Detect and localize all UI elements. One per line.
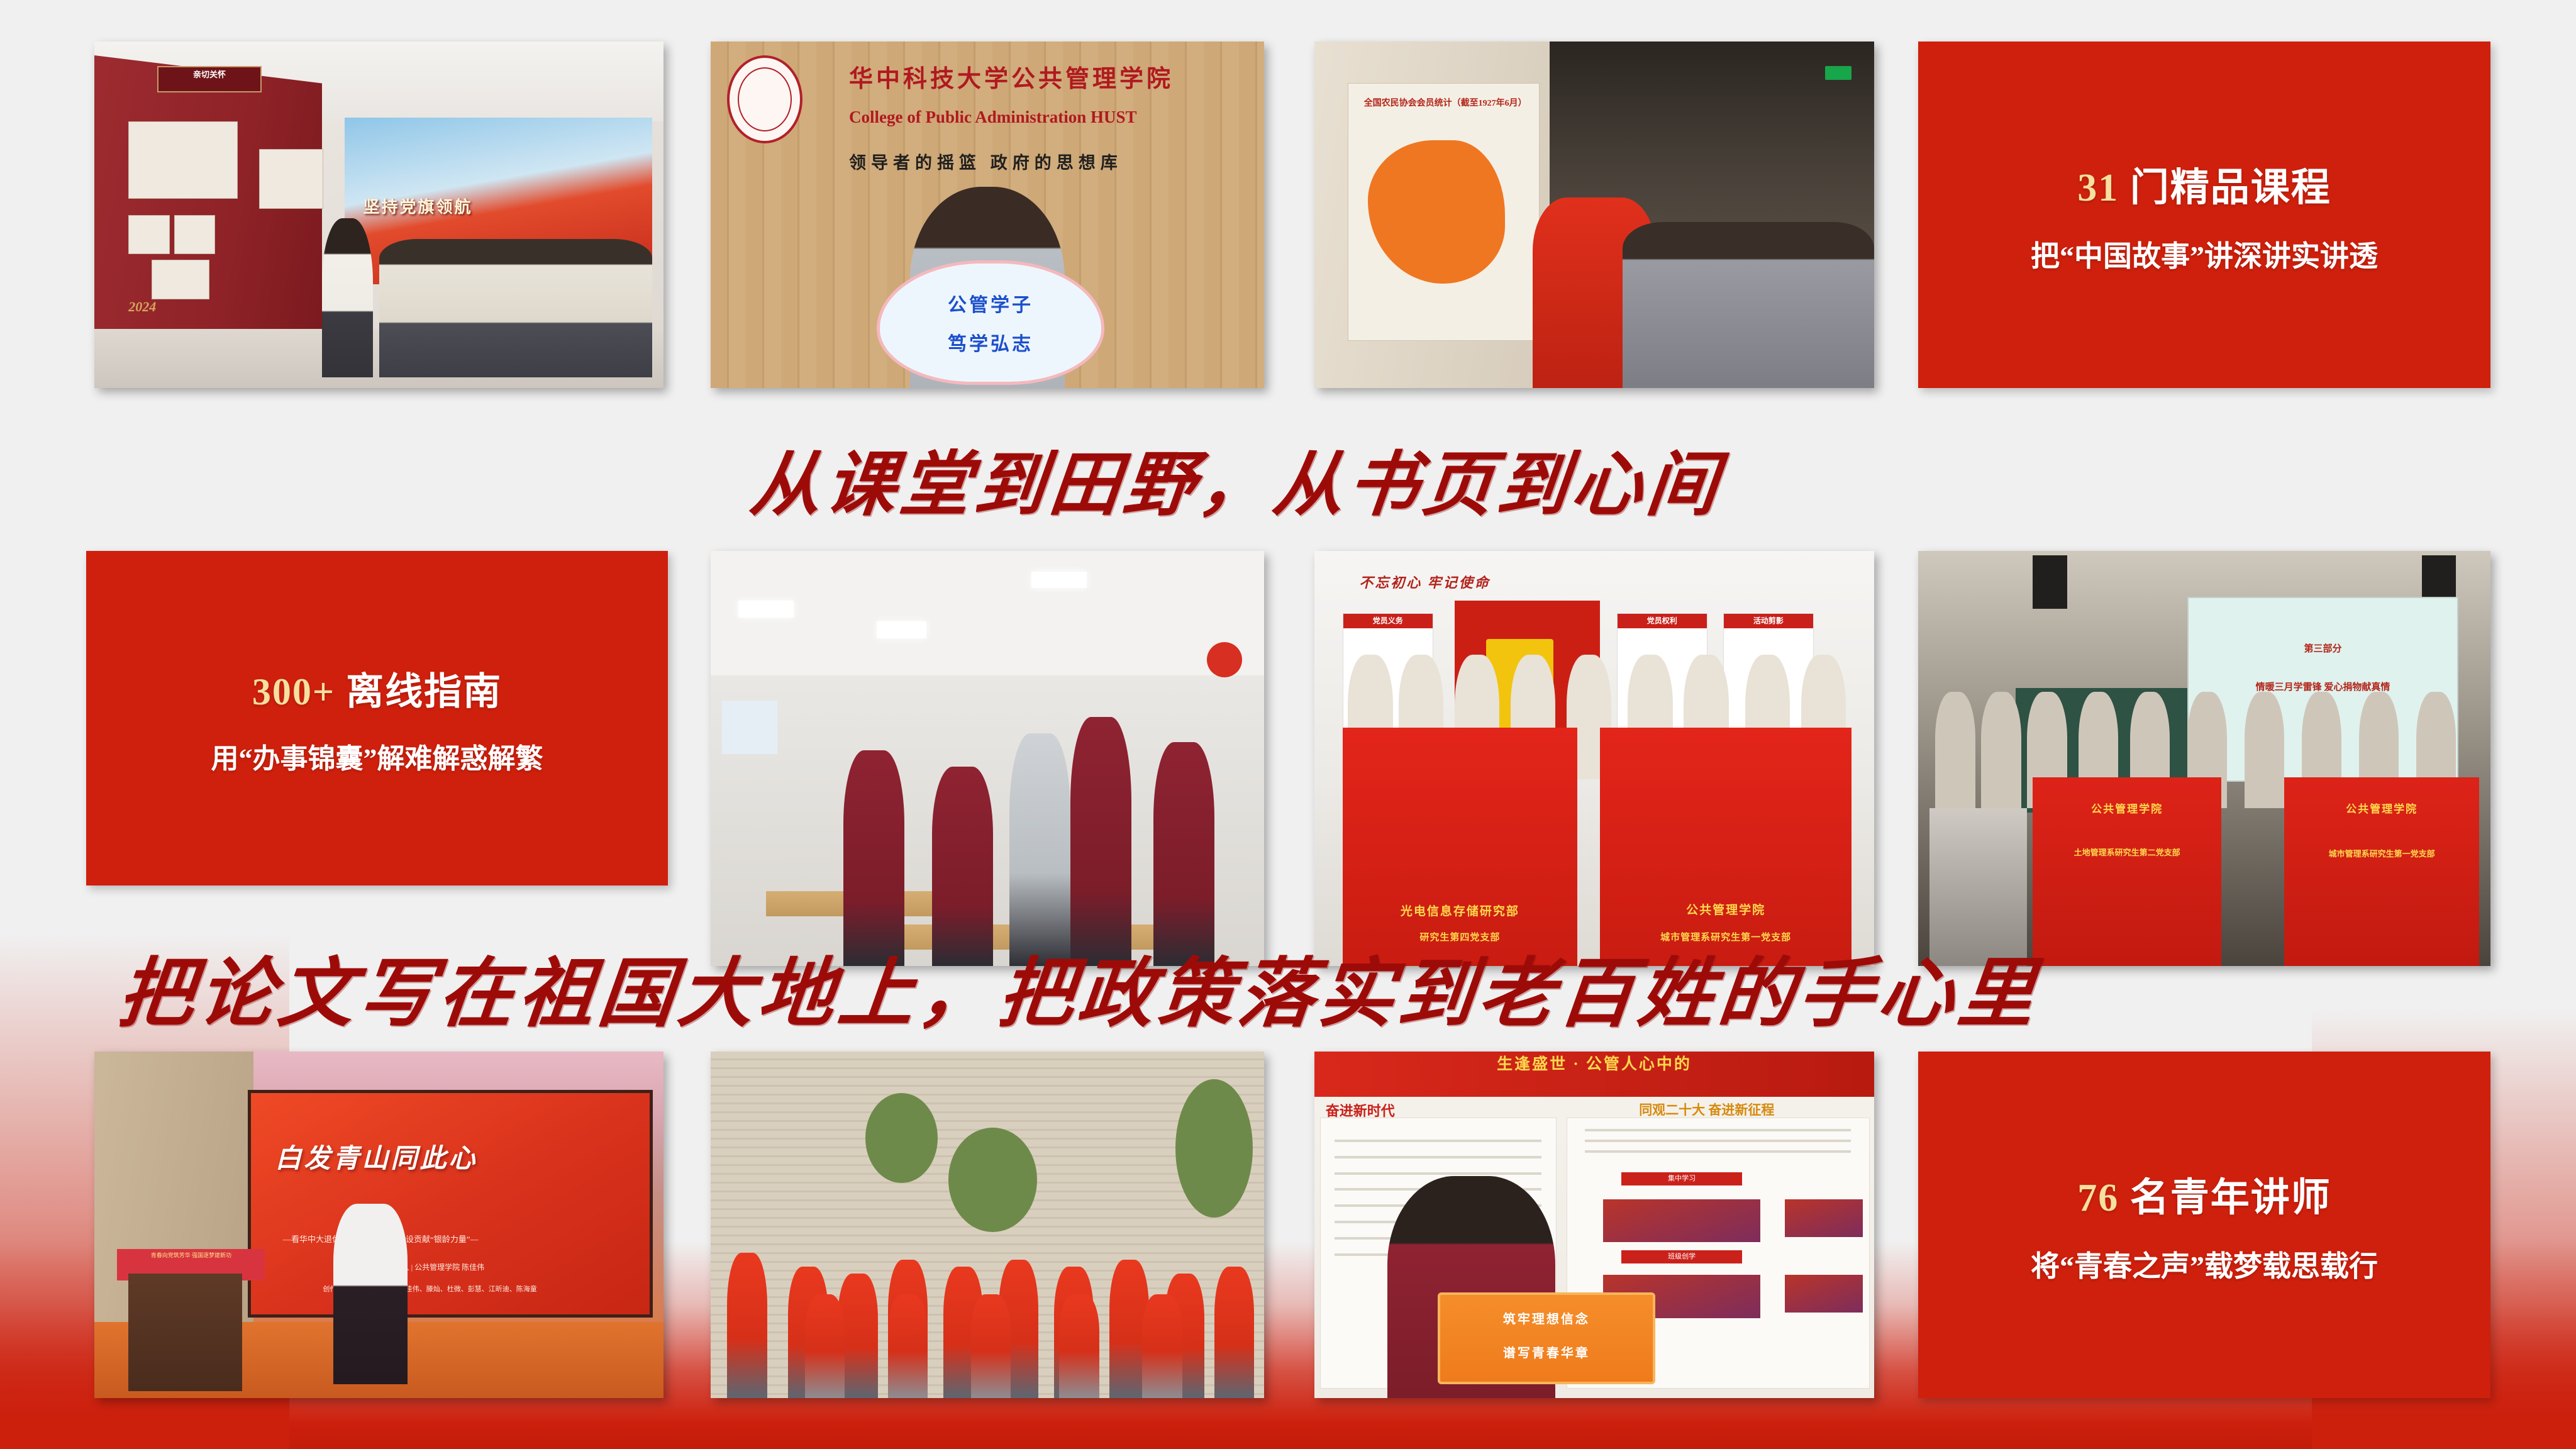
stat-card-courses-unit: 门精品课程 — [2119, 167, 2331, 209]
classroom-oath-scene — [711, 551, 1264, 966]
heading-thesis-on-the-land: 把论文写在祖国大地上，把政策落实到老百姓的手心里 — [114, 932, 2045, 1041]
bamboo-leaf-1 — [865, 1093, 937, 1183]
photo-exhibition-hall[interactable]: 亲切关怀 2024 坚持党旗领航 — [94, 42, 663, 388]
volunteer-front-5 — [1142, 1294, 1182, 1398]
poster-text-line — [1335, 1172, 1541, 1175]
photo-volunteer-group[interactable] — [711, 1052, 1264, 1398]
handheld-sign-line-2: 谱写青春华章 — [1440, 1343, 1653, 1361]
slide-part-label: 第三部分 — [2189, 641, 2458, 655]
stat-card-courses-headline: 31 门精品课程 — [2077, 155, 2331, 212]
attendee-2 — [1981, 692, 2021, 808]
ceiling-lamp-2 — [877, 621, 926, 638]
photo-lecture-donation[interactable]: 第三部分 情暖三月学雷锋 爱心捐物献真情 公共管理学院 土地管理系研究生第二党支… — [1918, 551, 2490, 966]
banner-public-admin: 公共管理学院 城市管理系研究生第一党支部 — [1600, 728, 1852, 966]
slide-title: 情暖三月学雷锋 爱心捐物献真情 — [2189, 680, 2458, 693]
podium-banner-text: 青春向党筑芳华 强国逐梦建新功 — [117, 1249, 265, 1263]
volunteer-front-1 — [805, 1294, 845, 1398]
ceiling-lamp-1 — [738, 601, 794, 617]
stat-card-lecturers-caption: 将“青春之声”载梦载思载行 — [2031, 1243, 2378, 1285]
wall-plaque: 亲切关怀 — [157, 66, 262, 93]
stage-led-screen: 白发青山同此心 —看华中大退休教师为教育强国建设贡献“银龄力量”— 主讲人 | … — [248, 1090, 653, 1318]
visitor-crowd — [1623, 222, 1875, 388]
student-group — [379, 239, 652, 377]
student-in-oath-3 — [1009, 733, 1070, 966]
led-title: 白发青山同此心 — [275, 1137, 477, 1175]
wall-year-label: 2024 — [128, 299, 156, 315]
map-title: 全国农民协会会员统计（截至1927年6月） — [1364, 96, 1527, 109]
photo-museum-map[interactable]: 全国农民协会会员统计（截至1927年6月） — [1314, 42, 1874, 388]
stage-podium — [128, 1274, 242, 1391]
college-seal-icon — [727, 55, 802, 143]
poster-header-text: 生逢盛世 · 公管人心中的 — [1314, 1052, 1874, 1079]
poster-text-line — [1585, 1150, 1851, 1153]
banner-optoelectronics: 光电信息存储研究部 研究生第四党支部 — [1343, 728, 1578, 966]
volunteer-group-scene — [711, 1052, 1264, 1398]
photo-poster-board[interactable]: 生逢盛世 · 公管人心中的 奋进新时代 同观二十大 奋进新征程 集中学习 班级创… — [1314, 1052, 1874, 1398]
info-plate-duties-label: 党员义务 — [1343, 614, 1433, 628]
wall-panel-4 — [152, 260, 210, 299]
handheld-sign-line-1: 筑牢理想信念 — [1440, 1309, 1653, 1327]
exit-sign-icon — [1825, 66, 1851, 80]
volunteer-back-1 — [727, 1253, 767, 1398]
poster-text-line — [1585, 1140, 1851, 1142]
poster-tag-study: 集中学习 — [1621, 1172, 1742, 1185]
stat-card-guides-unit: 离线指南 — [335, 671, 502, 713]
info-plate-activities-label: 活动剪影 — [1724, 614, 1813, 628]
stat-card-lecturers[interactable]: 76 名青年讲师 将“青春之声”载梦载思载行 — [1918, 1052, 2490, 1398]
poster-mini-photo-1 — [1603, 1199, 1760, 1243]
photo-stage-lecture[interactable]: 白发青山同此心 —看华中大退休教师为教育强国建设贡献“银龄力量”— 主讲人 | … — [94, 1052, 663, 1398]
poster-text-line — [1585, 1129, 1851, 1131]
banner-urban-management-sub: 城市管理系研究生第一党支部 — [2329, 847, 2435, 859]
volunteer-front-4 — [1059, 1294, 1099, 1398]
banner-optoelectronics-title: 光电信息存储研究部 — [1401, 902, 1519, 919]
lecture-donation-scene: 第三部分 情暖三月学雷锋 爱心捐物献真情 公共管理学院 土地管理系研究生第二党支… — [1918, 551, 2490, 966]
cloud-sign-line-1: 公管学子 — [880, 289, 1101, 317]
banner-public-admin-title: 公共管理学院 — [1686, 901, 1765, 918]
stat-card-guides[interactable]: 300+ 离线指南 用“办事锦囊”解难解惑解繁 — [86, 551, 668, 885]
bamboo-leaf-3 — [1175, 1079, 1253, 1218]
exhibition-hall-scene: 亲切关怀 2024 坚持党旗领航 — [94, 42, 663, 388]
map-display-board: 全国农民协会会员统计（截至1927年6月） — [1348, 83, 1540, 341]
led-screen-text: 坚持党旗领航 — [364, 194, 473, 218]
volunteer-back-10 — [1214, 1267, 1254, 1398]
stat-card-lecturers-headline: 76 名青年讲师 — [2077, 1165, 2331, 1222]
student-in-oath-4 — [1070, 717, 1131, 966]
photo-college-wall[interactable]: 华中科技大学公共管理学院 College of Public Administr… — [711, 42, 1264, 388]
bamboo-leaf-2 — [948, 1128, 1037, 1231]
wall-plaque-label: 亲切关怀 — [158, 67, 261, 83]
wall-panel-1 — [128, 121, 238, 199]
banner-land-management: 公共管理学院 土地管理系研究生第二党支部 — [2033, 777, 2221, 966]
stat-card-courses-caption: 把“中国故事”讲深讲实讲透 — [2031, 233, 2378, 275]
banner-land-management-title: 公共管理学院 — [2091, 800, 2163, 816]
stat-card-lecturers-unit: 名青年讲师 — [2119, 1177, 2331, 1219]
stage-speaker-figure — [333, 1204, 408, 1384]
banner-land-management-sub: 土地管理系研究生第二党支部 — [2074, 846, 2180, 858]
attendee-1 — [1935, 692, 1975, 808]
wall-panel-3 — [174, 215, 215, 255]
college-wall-scene: 华中科技大学公共管理学院 College of Public Administr… — [711, 42, 1264, 388]
stat-card-lecturers-number: 76 — [2077, 1177, 2119, 1219]
cloud-sign-board: 公管学子 笃学弘志 — [877, 260, 1104, 384]
speaker-left-icon — [2033, 555, 2067, 609]
poster-tag-class: 班级创学 — [1621, 1250, 1742, 1263]
poster-text-line — [1335, 1140, 1541, 1142]
stat-card-courses[interactable]: 31 门精品课程 把“中国故事”讲深讲实讲透 — [1918, 42, 2490, 388]
college-name-cn: 华中科技大学公共管理学院 — [849, 59, 1174, 94]
wall-panel-2 — [128, 215, 169, 255]
college-motto: 领导者的摇篮 政府的思想库 — [849, 149, 1123, 174]
banner-urban-management: 公共管理学院 城市管理系研究生第一党支部 — [2284, 777, 2479, 966]
college-name-en: College of Public Administration HUST — [849, 108, 1137, 127]
guide-person — [322, 218, 373, 377]
volunteer-front-2 — [888, 1294, 928, 1398]
info-plate-rights-label: 党员权利 — [1618, 614, 1707, 628]
cloud-sign-line-2: 笃学弘志 — [880, 328, 1101, 356]
classroom-wall-poster — [722, 701, 777, 755]
stat-card-guides-number: 300+ — [252, 671, 335, 713]
stage-lecture-scene: 白发青山同此心 —看华中大退休教师为教育强国建设贡献“银龄力量”— 主讲人 | … — [94, 1052, 663, 1398]
poster-right-headline: 同观二十大 奋进新征程 — [1639, 1100, 1774, 1119]
wall-panel-5 — [259, 149, 323, 209]
handheld-sign: 筑牢理想信念 谱写青春华章 — [1438, 1292, 1655, 1384]
photo-party-banners[interactable]: 不忘初心 牢记使命 党员义务 党员权利 活动剪影 光电信息存储研究部 研究生第四… — [1314, 551, 1874, 966]
photo-classroom-oath[interactable] — [711, 551, 1264, 966]
heading-from-classroom: 从课堂到田野，从书页到心间 — [746, 428, 1727, 530]
ceiling-lamp-3 — [1031, 572, 1087, 588]
poster-header-banner: 生逢盛世 · 公管人心中的 — [1314, 1052, 1874, 1097]
classroom-ceiling — [711, 551, 1264, 675]
stat-card-guides-headline: 300+ 离线指南 — [252, 661, 502, 716]
poster-text-line — [1335, 1156, 1541, 1158]
attendee-7 — [2245, 692, 2285, 808]
wall-slogan: 不忘初心 牢记使命 — [1359, 572, 1491, 592]
poster-board-scene: 生逢盛世 · 公管人心中的 奋进新时代 同观二十大 奋进新征程 集中学习 班级创… — [1314, 1052, 1874, 1398]
poster-mini-photo-4 — [1785, 1275, 1863, 1313]
museum-map-scene: 全国农民协会会员统计（截至1927年6月） — [1314, 42, 1874, 388]
stat-card-courses-number: 31 — [2077, 167, 2119, 209]
china-map-shape — [1368, 140, 1505, 284]
poster-mini-photo-3 — [1785, 1199, 1863, 1237]
party-banners-scene: 不忘初心 牢记使命 党员义务 党员权利 活动剪影 光电信息存储研究部 研究生第四… — [1314, 551, 1874, 966]
banner-urban-management-title: 公共管理学院 — [2346, 800, 2418, 816]
volunteer-front-3 — [971, 1294, 1011, 1398]
stat-card-guides-caption: 用“办事锦囊”解难解惑解繁 — [211, 736, 543, 776]
wall-badge-icon — [1207, 642, 1242, 677]
